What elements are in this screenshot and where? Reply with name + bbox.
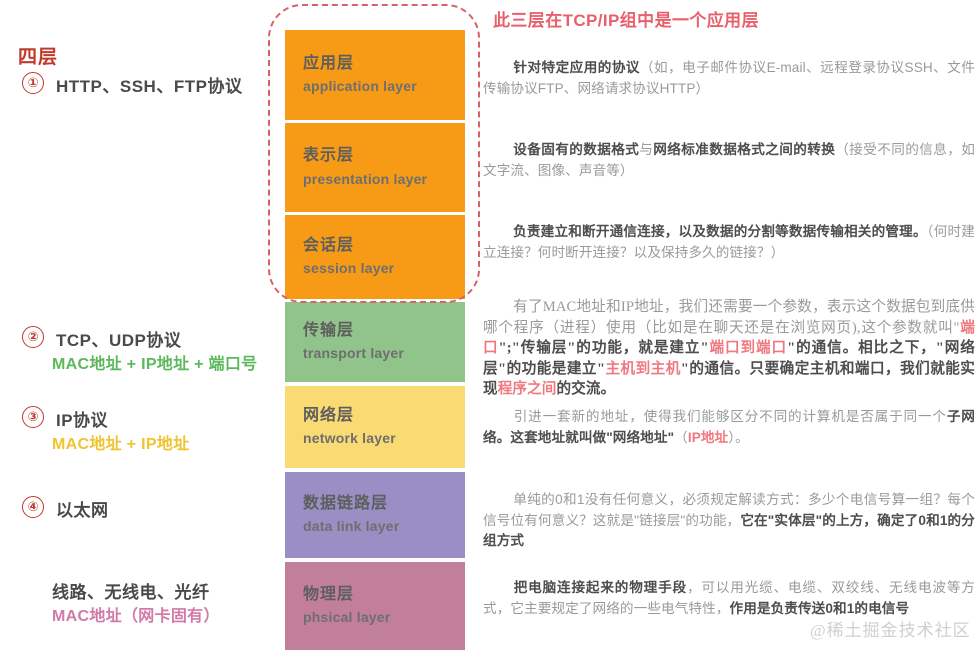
osi-layer-diagram: 四层 ① HTTP、SSH、FTP协议 ② TCP、UDP协议 MAC地址 + … — [0, 0, 980, 655]
desc-network-p1: 引进一套新的地址，使得我们能够区分不同的计算机是否属于同一个 — [513, 409, 947, 424]
layer-datalink-en: data link layer — [303, 516, 465, 537]
left-row-3-line1: IP协议 — [56, 406, 108, 431]
layer-presentation-cn: 表示层 — [303, 145, 465, 167]
layer-application-cn: 应用层 — [303, 53, 465, 75]
desc-network: 引进一套新的地址，使得我们能够区分不同的计算机是否属于同一个子网络。这套地址就叫… — [483, 407, 975, 448]
left-row-4-line1: 以太网 — [56, 496, 109, 521]
layer-transport-en: transport layer — [303, 343, 465, 364]
layer-box-application[interactable]: 应用层 application layer — [285, 30, 465, 120]
desc-network-p2: （ — [674, 430, 688, 445]
desc-presentation-mid: 与 — [639, 142, 653, 157]
layer-datalink-cn: 数据链路层 — [303, 493, 465, 515]
right-description-column: 此三层在TCP/IP组中是一个应用层 针对特定应用的协议（如，电子邮件协议E-m… — [483, 0, 980, 655]
desc-physical: 把电脑连接起来的物理手段，可以用光缆、电缆、双绞线、无线电波等方式，它主要规定了… — [483, 578, 975, 619]
left-protocol-column: 四层 ① HTTP、SSH、FTP协议 ② TCP、UDP协议 MAC地址 + … — [0, 0, 272, 655]
desc-transport-red3: 主机到主机 — [605, 361, 681, 377]
desc-network-p3: ）。 — [728, 430, 749, 445]
layer-box-network[interactable]: 网络层 network layer — [285, 386, 465, 468]
desc-physical-b1: 把电脑连接起来的物理手段 — [513, 580, 687, 595]
desc-session: 负责建立和断开通信连接，以及数据的分割等数据传输相关的管理。（何时建立连接？何时… — [483, 222, 975, 263]
desc-presentation-bold2: 网络标准数据格式之间的转换 — [653, 142, 835, 157]
desc-transport-p2: ";"传输层"的功能，就是建立" — [499, 340, 709, 356]
layer-application-en: application layer — [303, 76, 465, 97]
layer-presentation-en: presentation layer — [303, 169, 465, 190]
layer-network-cn: 网络层 — [303, 405, 465, 427]
tcpip-banner: 此三层在TCP/IP组中是一个应用层 — [493, 6, 759, 31]
desc-transport-red2: 端口到端口 — [709, 340, 787, 356]
marker-3: ③ — [22, 406, 44, 428]
layer-box-transport[interactable]: 传输层 transport layer — [285, 302, 465, 382]
desc-presentation: 设备固有的数据格式与网络标准数据格式之间的转换（接受不同的信息，如文字流、图像、… — [483, 140, 975, 181]
left-row-2-line1: TCP、UDP协议 — [56, 326, 181, 351]
desc-transport: 有了MAC地址和IP地址，我们还需要一个参数，表示这个数据包到底供哪个程序（进程… — [483, 297, 975, 400]
desc-application-bold: 针对特定应用的协议 — [513, 60, 640, 75]
desc-physical-b2: 作用是负责传送0和1的电信号 — [730, 601, 910, 616]
left-row-5-line2: MAC地址（网卡固有） — [52, 602, 220, 626]
desc-transport-p1: 有了MAC地址和IP地址，我们还需要一个参数，表示这个数据包到底供哪个程序（进程… — [483, 299, 975, 336]
left-row-1-line1: HTTP、SSH、FTP协议 — [56, 72, 242, 97]
left-row-3-line2: MAC地址 + IP地址 — [52, 430, 189, 454]
left-row-2-line2: MAC地址 + IP地址 + 端口号 — [52, 350, 257, 374]
layer-box-presentation[interactable]: 表示层 presentation layer — [285, 123, 465, 212]
layer-box-session[interactable]: 会话层 session layer — [285, 215, 465, 299]
page-title: 四层 — [18, 42, 58, 69]
layer-session-en: session layer — [303, 258, 465, 279]
layer-box-datalink[interactable]: 数据链路层 data link layer — [285, 472, 465, 558]
layer-network-en: network layer — [303, 428, 465, 449]
desc-application: 针对特定应用的协议（如，电子邮件协议E-mail、远程登录协议SSH、文件传输协… — [483, 58, 975, 99]
watermark: @稀土掘金技术社区 — [810, 616, 971, 641]
marker-2: ② — [22, 326, 44, 348]
desc-transport-p5: 的交流。 — [556, 381, 615, 397]
desc-transport-red4: 程序之间 — [498, 381, 557, 397]
layer-physical-cn: 物理层 — [303, 584, 465, 606]
desc-presentation-bold1: 设备固有的数据格式 — [513, 142, 639, 157]
marker-4: ④ — [22, 496, 44, 518]
marker-1: ① — [22, 72, 44, 94]
layer-box-physical[interactable]: 物理层 phsical layer — [285, 562, 465, 650]
layer-session-cn: 会话层 — [303, 235, 465, 257]
left-row-5-line1: 线路、无线电、光纤 — [52, 578, 210, 603]
desc-network-red1: IP地址 — [688, 430, 728, 445]
desc-session-bold: 负责建立和断开通信连接，以及数据的分割等数据传输相关的管理。 — [513, 224, 927, 239]
layer-physical-en: phsical layer — [303, 607, 465, 628]
layer-transport-cn: 传输层 — [303, 320, 465, 342]
desc-datalink: 单纯的0和1没有任何意义，必须规定解读方式：多少个电信号算一组？每个信号位有何意… — [483, 490, 975, 552]
